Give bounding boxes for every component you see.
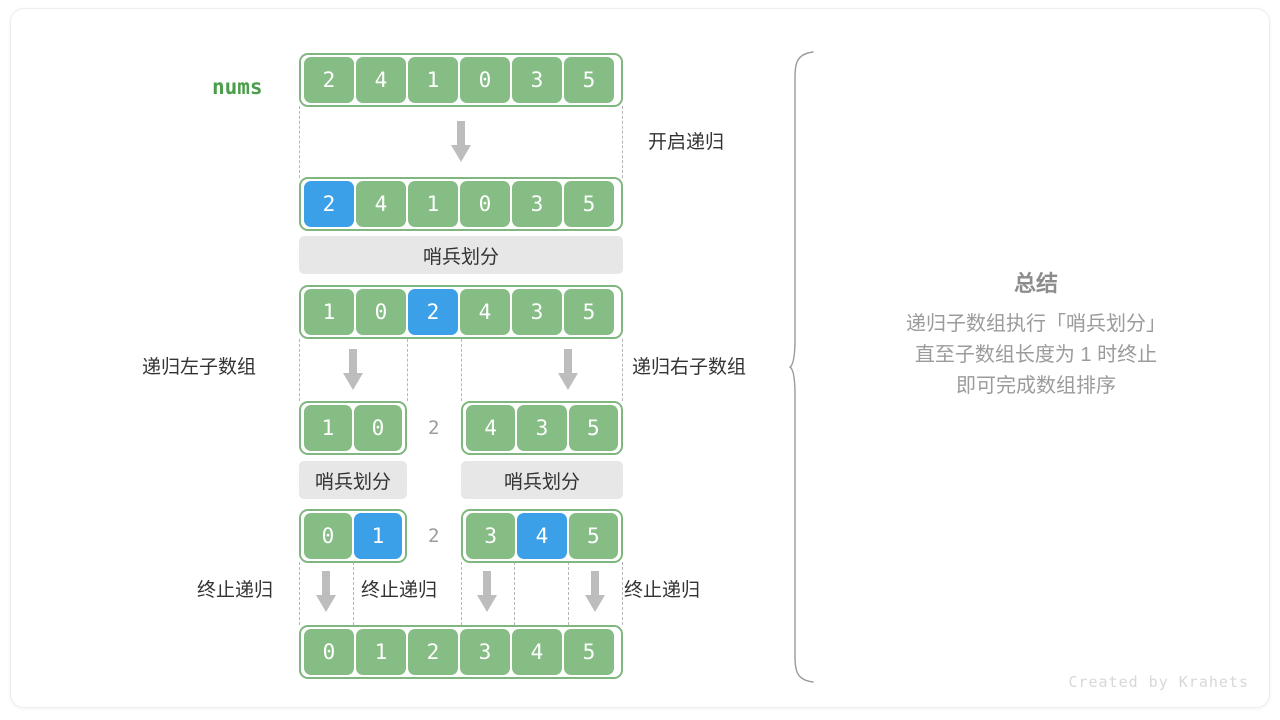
array-cell: 0: [460, 181, 510, 227]
array-cell: 4: [512, 629, 562, 675]
down-arrow-icon: [315, 571, 337, 609]
credit-text: Created by Krahets: [1068, 673, 1249, 691]
array-cell: 3: [512, 181, 562, 227]
array-cell: 3: [460, 629, 510, 675]
array-cell: 0: [304, 629, 354, 675]
array-cell-pivot: 1: [354, 513, 402, 559]
array-cell: 2: [408, 629, 458, 675]
pivot-value-fixed: 2: [428, 527, 439, 546]
down-arrow-icon: [584, 571, 606, 609]
curly-brace-icon: [789, 51, 825, 683]
array-row-after-partition: 1 0 2 4 3 5: [299, 285, 623, 339]
summary-line: 递归子数组执行「哨兵划分」: [841, 309, 1231, 340]
partition-bar-left: 哨兵划分: [299, 461, 407, 499]
array-cell: 4: [466, 405, 515, 451]
subarray-row-right-partitioned: 3 4 5: [461, 509, 623, 563]
array-cell: 5: [564, 289, 614, 335]
guide-line: [299, 562, 300, 625]
subarray-row-left-partitioned: 0 1: [299, 509, 407, 563]
array-cell: 0: [356, 289, 406, 335]
label-end-recursion-left: 终止递归: [197, 581, 273, 600]
array-cell: 4: [460, 289, 510, 335]
guide-line: [461, 562, 462, 625]
array-cell-pivot: 2: [304, 181, 354, 227]
label-start-recursion: 开启递归: [648, 133, 724, 152]
guide-line: [568, 562, 569, 625]
down-arrow-icon: [557, 349, 579, 387]
array-cell: 3: [512, 289, 562, 335]
array-cell: 1: [408, 181, 458, 227]
label-end-recursion-middle: 终止递归: [361, 581, 437, 600]
summary-line: 直至子数组长度为 1 时终止: [841, 340, 1231, 371]
array-cell: 1: [356, 629, 406, 675]
array-cell: 0: [354, 405, 402, 451]
guide-line: [299, 339, 300, 401]
guide-line: [461, 339, 462, 401]
label-end-recursion-right: 终止递归: [624, 581, 700, 600]
partition-bar-main: 哨兵划分: [299, 236, 623, 274]
array-row-pivot-selected: 2 4 1 0 3 5: [299, 177, 623, 231]
diagram-stage: nums 2 4 1 0 3 5 开启递归 2 4 1 0 3 5 哨兵划分 1: [11, 9, 1270, 708]
down-arrow-icon: [342, 349, 364, 387]
array-cell: 5: [564, 629, 614, 675]
guide-line: [299, 106, 300, 178]
nums-label: nums: [212, 77, 263, 98]
label-recurse-left: 递归左子数组: [142, 358, 256, 377]
array-cell: 2: [304, 57, 354, 103]
array-cell: 4: [356, 181, 406, 227]
down-arrow-icon: [450, 121, 472, 159]
array-cell: 1: [304, 405, 352, 451]
guide-line: [622, 562, 623, 625]
array-cell: 0: [460, 57, 510, 103]
array-cell: 5: [569, 405, 618, 451]
array-cell: 3: [466, 513, 515, 559]
array-cell: 0: [304, 513, 352, 559]
array-row-final-sorted: 0 1 2 3 4 5: [299, 625, 623, 679]
guide-line: [353, 562, 354, 625]
down-arrow-icon: [476, 571, 498, 609]
array-cell-pivot: 2: [408, 289, 458, 335]
guide-line: [622, 339, 623, 401]
pivot-value-fixed: 2: [428, 419, 439, 438]
label-recurse-right: 递归右子数组: [632, 358, 746, 377]
array-cell: 3: [512, 57, 562, 103]
array-cell: 4: [356, 57, 406, 103]
subarray-row-left: 1 0: [299, 401, 407, 455]
array-cell: 5: [569, 513, 618, 559]
summary-block: 总结 递归子数组执行「哨兵划分」 直至子数组长度为 1 时终止 即可完成数组排序: [841, 271, 1231, 402]
array-row-initial: 2 4 1 0 3 5: [299, 53, 623, 107]
array-cell: 3: [517, 405, 566, 451]
summary-line: 即可完成数组排序: [841, 371, 1231, 402]
array-cell: 5: [564, 57, 614, 103]
partition-bar-right: 哨兵划分: [461, 461, 623, 499]
array-cell-pivot: 4: [517, 513, 566, 559]
diagram-card: nums 2 4 1 0 3 5 开启递归 2 4 1 0 3 5 哨兵划分 1: [10, 8, 1270, 708]
array-cell: 1: [304, 289, 354, 335]
summary-title: 总结: [841, 271, 1231, 297]
array-cell: 1: [408, 57, 458, 103]
array-cell: 5: [564, 181, 614, 227]
guide-line: [622, 106, 623, 178]
subarray-row-right: 4 3 5: [461, 401, 623, 455]
guide-line: [514, 562, 515, 625]
guide-line: [407, 339, 408, 401]
